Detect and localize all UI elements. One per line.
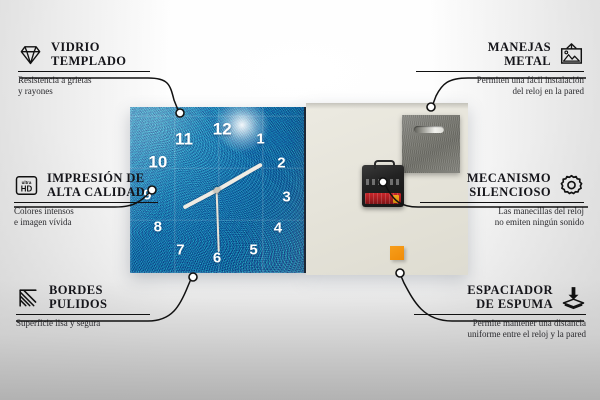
clock-numeral-6: 6 xyxy=(213,251,221,266)
clock-numeral-3: 3 xyxy=(282,189,290,204)
diamond-icon xyxy=(18,42,43,67)
callout-bordes-pulidos: BORDES PULIDOS Superficie lisa y segura xyxy=(16,284,166,329)
callout-rule xyxy=(16,314,150,315)
metal-hanger-plate xyxy=(402,115,460,173)
callout-rule xyxy=(416,71,584,72)
callout-desc: Las manecillas del reloj no emiten ningú… xyxy=(420,206,584,227)
mechanism-hanger-loop xyxy=(374,160,395,169)
callout-title: VIDRIO TEMPLADO xyxy=(51,41,126,68)
callout-title-row: ultra HD IMPRESIÓN DE ALTA CALIDAD xyxy=(14,172,174,199)
battery xyxy=(365,193,401,204)
callout-title: ESPACIADOR DE ESPUMA xyxy=(467,284,553,311)
callout-title-row: VIDRIO TEMPLADO xyxy=(18,41,168,68)
clock-numeral-10: 10 xyxy=(148,153,167,170)
infographic-canvas: 12 1 2 3 4 5 6 7 8 9 10 11 xyxy=(0,0,600,400)
clock-numeral-2: 2 xyxy=(277,156,285,171)
callout-rule xyxy=(420,202,584,203)
svg-text:HD: HD xyxy=(21,184,33,193)
callout-desc: Permite mantener una distancia uniforme … xyxy=(414,318,586,339)
callout-title: IMPRESIÓN DE ALTA CALIDAD xyxy=(47,172,145,199)
callout-title: MECANISMO SILENCIOSO xyxy=(467,172,551,199)
callout-rule xyxy=(18,71,150,72)
hanger-keyhole-slot xyxy=(414,126,444,133)
callout-title-row: ESPACIADOR DE ESPUMA xyxy=(414,284,586,311)
clock-center-cap xyxy=(214,187,220,193)
back-panel-top-shadow xyxy=(306,103,468,109)
foam-spacer xyxy=(390,246,404,260)
callout-rule xyxy=(14,202,158,203)
clock-numeral-5: 5 xyxy=(249,242,257,257)
ultra-hd-icon: ultra HD xyxy=(14,173,39,198)
gear-icon xyxy=(559,173,584,198)
clock-numeral-1: 1 xyxy=(256,131,264,146)
callout-desc: Colores intensos e imagen vívida xyxy=(14,206,174,227)
quartz-mechanism xyxy=(362,165,404,207)
mechanism-label xyxy=(366,179,400,185)
callout-impresion-alta-calidad: ultra HD IMPRESIÓN DE ALTA CALIDAD Color… xyxy=(14,172,174,227)
clock-numeral-11: 11 xyxy=(175,130,193,147)
callout-desc: Resistencia a grietas y rayones xyxy=(18,75,168,96)
callout-desc: Permiten una fácil instalación del reloj… xyxy=(416,75,584,96)
hanger-metal-grain xyxy=(402,115,460,173)
callout-manejas-metal: MANEJAS METAL Permiten una fácil instala… xyxy=(416,41,584,96)
polished-edges-icon xyxy=(16,285,41,310)
battery-terminal xyxy=(393,195,399,203)
clock-numeral-7: 7 xyxy=(176,242,184,257)
arrow-into-stack-icon xyxy=(561,285,586,310)
callout-desc: Superficie lisa y segura xyxy=(16,318,166,329)
clock-numeral-4: 4 xyxy=(274,221,282,236)
callout-title: BORDES PULIDOS xyxy=(49,284,107,311)
clock-numeral-12: 12 xyxy=(213,120,232,137)
callout-title-row: MANEJAS METAL xyxy=(416,41,584,68)
callout-title-row: MECANISMO SILENCIOSO xyxy=(420,172,584,199)
picture-frame-icon xyxy=(559,42,584,67)
callout-vidrio-templado: VIDRIO TEMPLADO Resistencia a grietas y … xyxy=(18,41,168,96)
callout-espaciador-de-espuma: ESPACIADOR DE ESPUMA Permite mantener un… xyxy=(414,284,586,339)
callout-title-row: BORDES PULIDOS xyxy=(16,284,166,311)
callout-rule xyxy=(414,314,586,315)
callout-mecanismo-silencioso: MECANISMO SILENCIOSO Las manecillas del … xyxy=(420,172,584,227)
callout-title: MANEJAS METAL xyxy=(488,41,551,68)
